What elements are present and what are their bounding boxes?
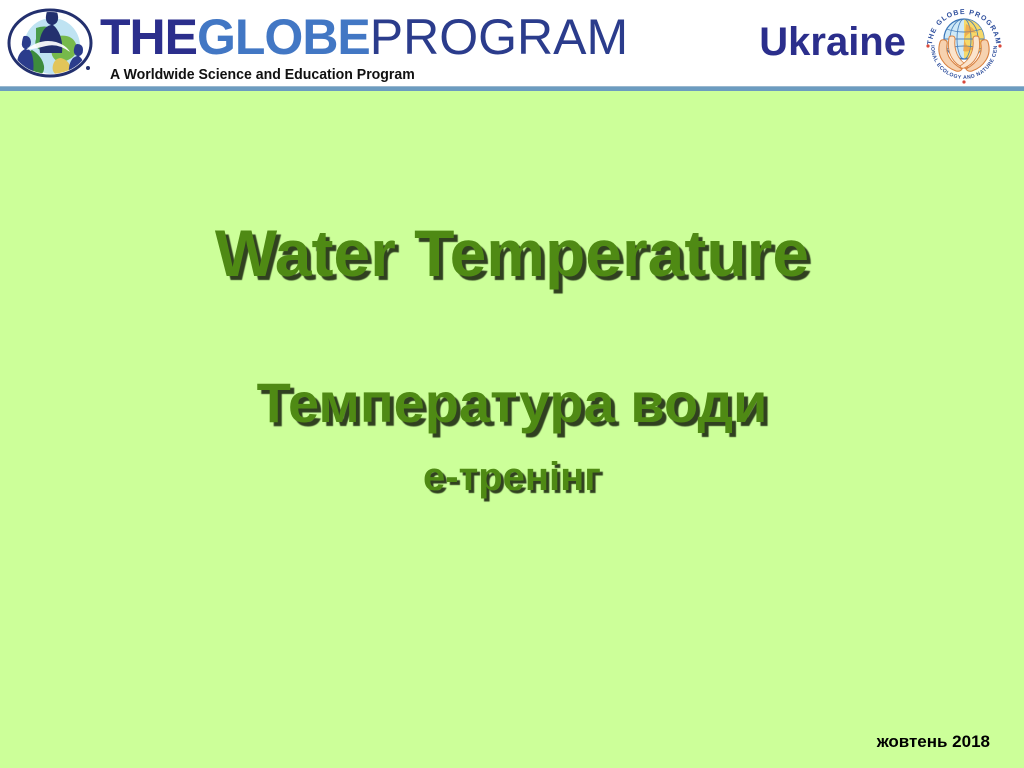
slide-header: THEGLOBEPROGRAM A Worldwide Science and … (0, 0, 1024, 88)
country-label: Ukraine (759, 20, 906, 65)
wordmark-the: THE (100, 9, 197, 65)
header-divider (0, 86, 1024, 91)
globe-in-hands-emblem-icon: THE GLOBE PROGRAM NATIONAL ECOLOGY AND N… (922, 2, 1006, 86)
slide-title-ukrainian: Температура води (0, 370, 1024, 435)
program-tagline: A Worldwide Science and Education Progra… (110, 66, 415, 83)
globe-program-wordmark: THEGLOBEPROGRAM (100, 12, 628, 62)
globe-program-logo-icon (6, 6, 94, 80)
wordmark-globe: GLOBE (197, 9, 370, 65)
slide-title-english: Water Temperature (0, 215, 1024, 291)
slide-date: жовтень 2018 (877, 732, 990, 752)
slide-subtitle-ukrainian: е-тренінг (0, 455, 1024, 500)
wordmark-program: PROGRAM (370, 9, 628, 65)
presentation-slide: THEGLOBEPROGRAM A Worldwide Science and … (0, 0, 1024, 768)
